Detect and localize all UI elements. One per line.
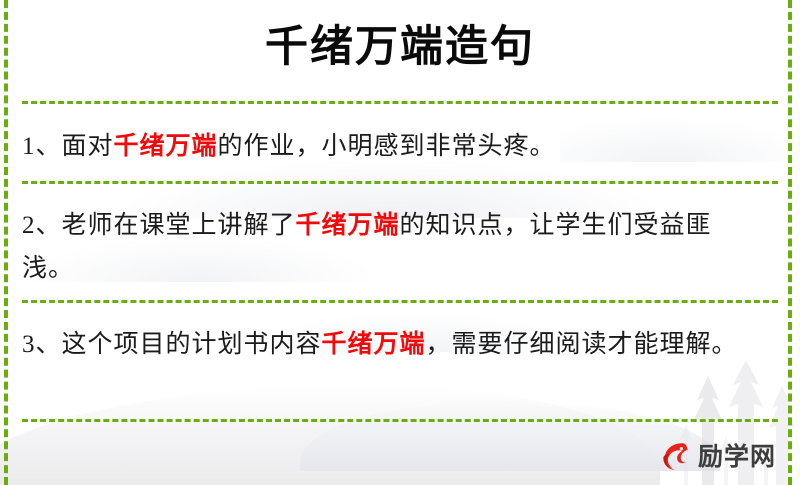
divider-2 — [22, 181, 778, 184]
divider-4 — [22, 419, 778, 422]
site-logo[interactable]: 励学网 — [658, 439, 776, 473]
keyword-highlight-2: 千绪万端 — [296, 210, 400, 239]
frame-border-left — [4, 0, 8, 485]
example-sentence-3: 3、这个项目的计划书内容千绪万端，需要仔细阅读才能理解。 — [22, 322, 762, 366]
divider-3 — [22, 300, 778, 303]
keyword-highlight-1: 千绪万端 — [114, 131, 218, 160]
mountain-ridge-left — [0, 385, 660, 485]
sentence-text-before-3: 这个项目的计划书内容 — [62, 331, 322, 358]
sentence-text-before-1: 面对 — [62, 133, 114, 160]
page-title: 千绪万端造句 — [0, 12, 800, 74]
sentence-index-2: 2、 — [22, 212, 62, 239]
poster-canvas: 千绪万端造句 1、面对千绪万端的作业，小明感到非常头疼。 2、老师在课堂上讲解了… — [0, 0, 800, 485]
sentence-text-after-1: 的作业，小明感到非常头疼。 — [218, 133, 556, 160]
example-sentence-2: 2、老师在课堂上讲解了千绪万端的知识点，让学生们受益匪浅。 — [22, 203, 762, 290]
keyword-highlight-3: 千绪万端 — [322, 329, 426, 358]
sentence-text-before-2: 老师在课堂上讲解了 — [62, 212, 296, 239]
sentence-index-1: 1、 — [22, 133, 62, 160]
red-swirl-phoenix-icon — [658, 439, 692, 473]
site-logo-label: 励学网 — [698, 444, 776, 469]
sentence-index-3: 3、 — [22, 331, 62, 358]
divider-1 — [22, 101, 778, 104]
frame-border-right — [788, 0, 792, 485]
example-sentence-1: 1、面对千绪万端的作业，小明感到非常头疼。 — [22, 124, 762, 168]
sentence-text-after-3: ，需要仔细阅读才能理解。 — [426, 331, 738, 358]
